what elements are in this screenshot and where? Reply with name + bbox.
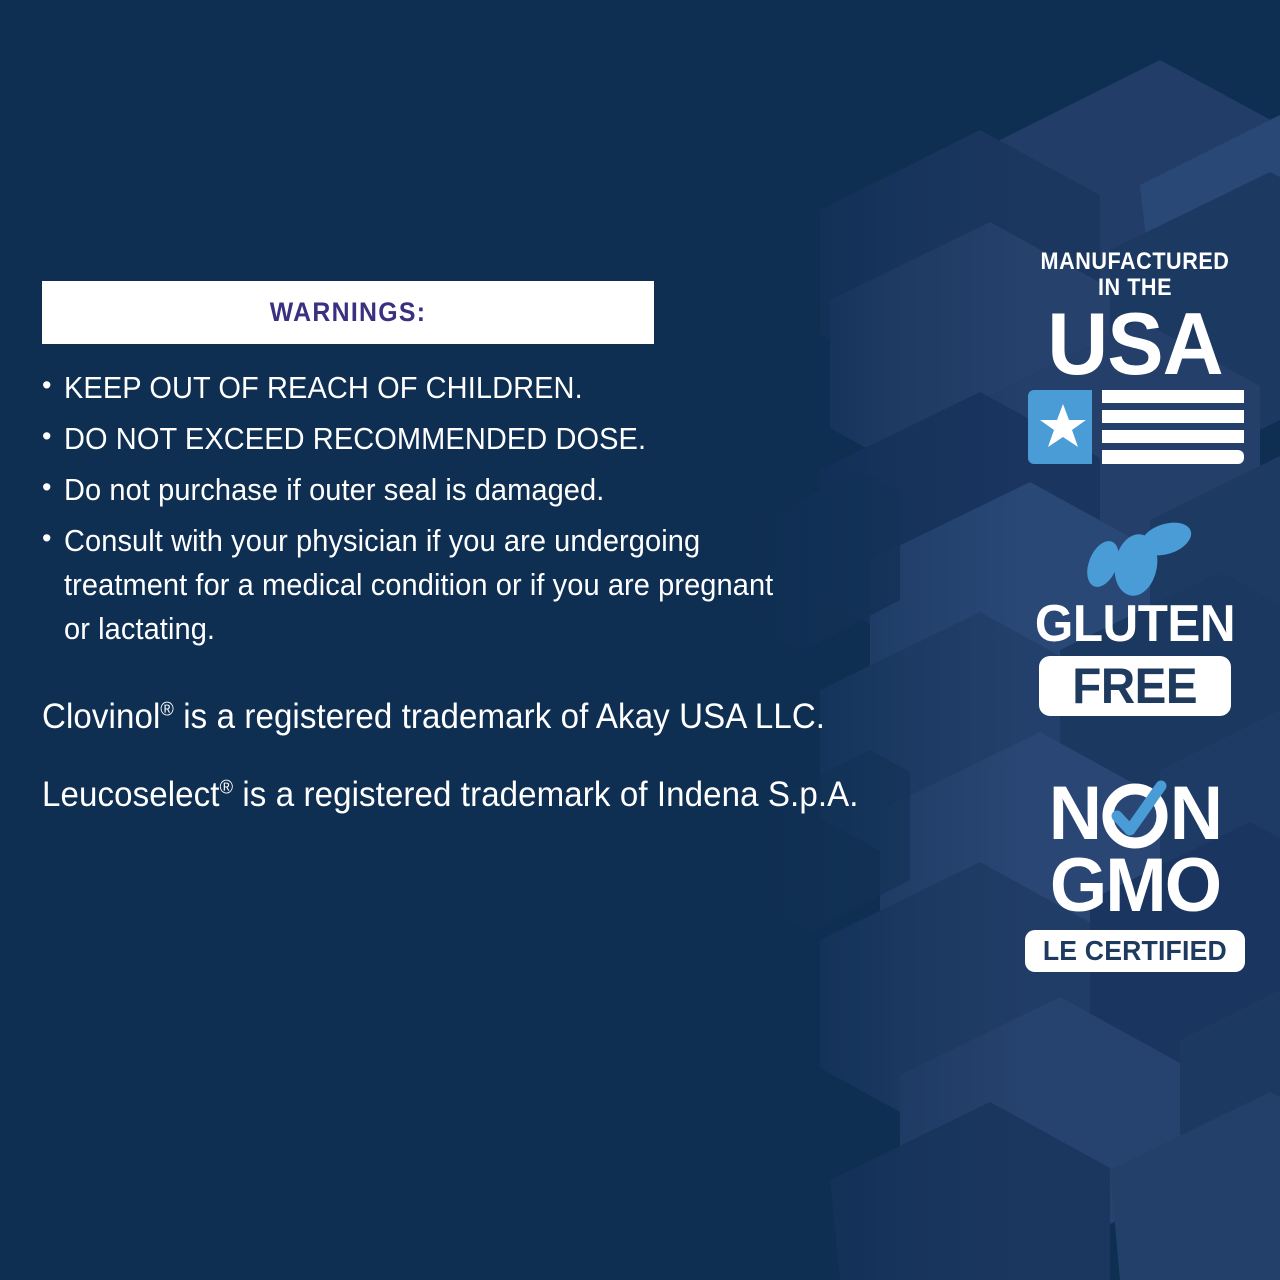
list-item: • Consult with your physician if you are…: [42, 519, 942, 651]
warning-text: Consult with your physician if you are u…: [64, 519, 803, 651]
gluten-word: GLUTEN: [1012, 598, 1259, 650]
bullet-icon: •: [42, 519, 64, 651]
warning-text: KEEP OUT OF REACH OF CHILDREN.: [64, 366, 803, 410]
trademark-brand: Leucoselect: [42, 775, 220, 814]
list-item: • Do not purchase if outer seal is damag…: [42, 468, 942, 512]
le-certified-word: LE CERTIFIED: [1043, 937, 1227, 965]
bullet-icon: •: [42, 468, 64, 512]
warnings-list: • KEEP OUT OF REACH OF CHILDREN. • DO NO…: [42, 366, 942, 651]
check-circle-icon: [1099, 778, 1171, 850]
non-suffix-letter: N: [1170, 776, 1221, 852]
registered-mark-icon: ®: [160, 699, 174, 720]
usa-badge-word: USA: [1010, 303, 1260, 385]
usa-badge-line1: MANUFACTURED: [1018, 250, 1252, 274]
non-prefix-letter: N: [1049, 776, 1100, 852]
manufactured-in-usa-badge: MANUFACTURED IN THE USA: [1005, 250, 1265, 466]
free-box: FREE: [1039, 656, 1231, 716]
warning-text: DO NOT EXCEED RECOMMENDED DOSE.: [64, 417, 803, 461]
registered-mark-icon: ®: [220, 777, 234, 798]
free-word: FREE: [1073, 661, 1198, 711]
warnings-banner: WARNINGS:: [42, 281, 654, 344]
label-panel: WARNINGS: • KEEP OUT OF REACH OF CHILDRE…: [0, 0, 1280, 1280]
gluten-free-badge: GLUTEN FREE: [1005, 518, 1265, 716]
gmo-word: GMO: [1009, 848, 1261, 924]
non-gmo-badge: N N GMO LE CERTIFIED: [1005, 778, 1265, 972]
trademark-brand: Clovinol: [42, 697, 160, 736]
certification-badges: MANUFACTURED IN THE USA: [990, 250, 1280, 972]
warnings-title: WARNINGS:: [270, 297, 426, 328]
warning-text: Do not purchase if outer seal is damaged…: [64, 468, 803, 512]
le-certified-box: LE CERTIFIED: [1025, 930, 1245, 972]
usa-flag-icon: [1005, 388, 1265, 466]
trademark-notice: Leucoselect® is a registered trademark o…: [42, 771, 874, 819]
list-item: • DO NOT EXCEED RECOMMENDED DOSE.: [42, 417, 942, 461]
trademark-notices: Clovinol® is a registered trademark of A…: [42, 693, 942, 818]
wheat-leaves-icon: [1005, 518, 1265, 596]
trademark-notice: Clovinol® is a registered trademark of A…: [42, 693, 874, 741]
bullet-icon: •: [42, 417, 64, 461]
non-row: N N: [1005, 778, 1265, 850]
bullet-icon: •: [42, 366, 64, 410]
trademark-body: is a registered trademark of Indena S.p.…: [233, 775, 858, 814]
warnings-content-column: WARNINGS: • KEEP OUT OF REACH OF CHILDRE…: [42, 281, 942, 848]
list-item: • KEEP OUT OF REACH OF CHILDREN.: [42, 366, 942, 410]
trademark-body: is a registered trademark of Akay USA LL…: [174, 697, 825, 736]
